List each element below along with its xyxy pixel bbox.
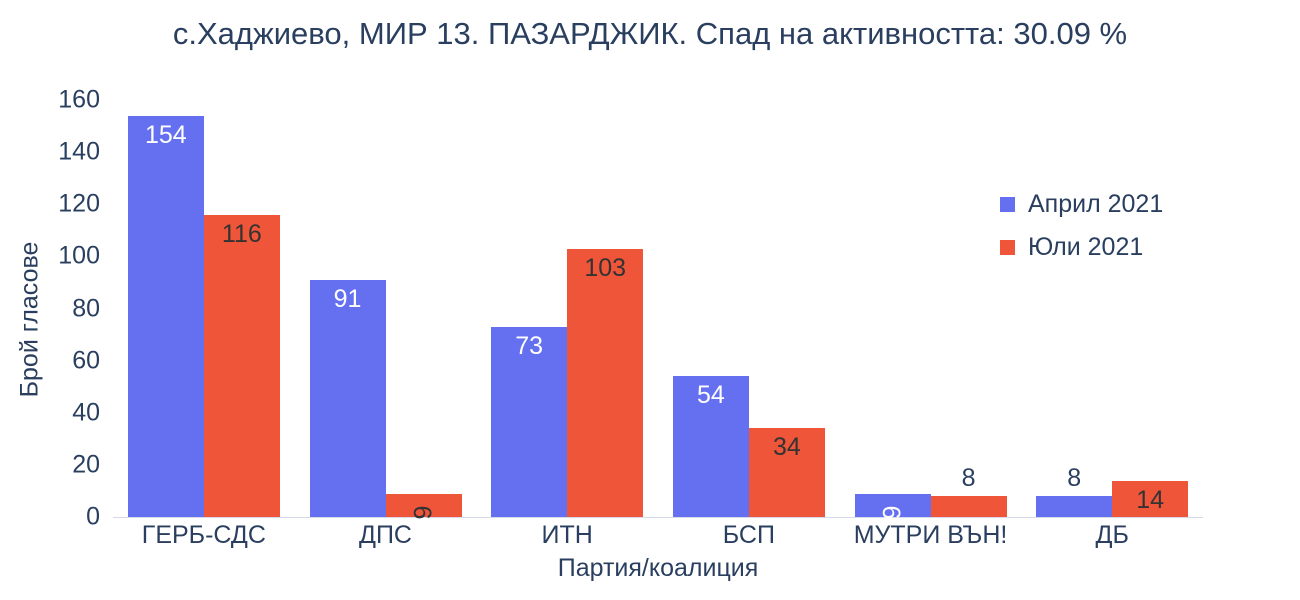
bar-april[interactable]: 54 <box>673 376 749 517</box>
legend-item[interactable]: Юли 2021 <box>1000 233 1163 262</box>
bar-april[interactable]: 154 <box>128 116 204 517</box>
bar-april[interactable]: 9 <box>855 494 931 517</box>
bar-value-label: 73 <box>491 334 567 359</box>
y-tick-label: 140 <box>8 138 100 167</box>
x-axis-ticks: ГЕРБ-СДСДПСИТНБСПМУТРИ ВЪН!ДБ <box>113 521 1203 555</box>
bar-value-label: 154 <box>128 123 204 148</box>
y-tick-label: 100 <box>8 242 100 271</box>
x-tick-label: ДБ <box>1021 521 1203 555</box>
x-tick-label: ИТН <box>476 521 658 555</box>
bar-value-label: 8 <box>1036 466 1112 491</box>
legend-swatch-icon <box>1000 240 1015 255</box>
x-tick-label: ГЕРБ-СДС <box>113 521 295 555</box>
legend-item[interactable]: Април 2021 <box>1000 190 1163 219</box>
bar-group: 154116 <box>113 100 295 517</box>
bar-july[interactable]: 8 <box>931 496 1007 517</box>
bar-group: 73103 <box>476 100 658 517</box>
bar-value-label: 91 <box>310 287 386 312</box>
x-tick-label: МУТРИ ВЪН! <box>840 521 1022 555</box>
bar-july[interactable]: 116 <box>204 215 280 517</box>
x-axis-title: Партия/коалиция <box>113 554 1203 583</box>
bar-value-label: 8 <box>931 466 1007 491</box>
bar-july[interactable]: 14 <box>1112 481 1188 517</box>
bar-value-label: 14 <box>1112 488 1188 513</box>
bar-group: 814 <box>1021 100 1203 517</box>
bar-value-label: 116 <box>204 222 280 247</box>
chart-legend: Април 2021Юли 2021 <box>1000 190 1163 262</box>
legend-swatch-icon <box>1000 197 1015 212</box>
bar-april[interactable]: 73 <box>491 327 567 517</box>
y-tick-label: 60 <box>8 346 100 375</box>
bar-value-label: 54 <box>673 383 749 408</box>
bar-group: 919 <box>295 100 477 517</box>
y-tick-label: 120 <box>8 190 100 219</box>
legend-label: Април 2021 <box>1028 190 1163 219</box>
y-tick-label: 20 <box>8 450 100 479</box>
y-tick-label: 80 <box>8 294 100 323</box>
legend-label: Юли 2021 <box>1028 233 1143 262</box>
bar-value-label: 34 <box>749 435 825 460</box>
bar-group: 98 <box>840 100 1022 517</box>
bar-july[interactable]: 9 <box>386 494 462 517</box>
x-tick-label: БСП <box>658 521 840 555</box>
y-axis-ticks: 020406080100120140160 <box>0 0 100 600</box>
bar-july[interactable]: 34 <box>749 428 825 517</box>
bar-group: 5434 <box>658 100 840 517</box>
bar-groups: 15411691973103543498814 <box>113 100 1203 517</box>
bar-april[interactable]: 91 <box>310 280 386 517</box>
y-tick-label: 0 <box>8 503 100 532</box>
chart-figure: с.Хаджиево, МИР 13. ПАЗАРДЖИК. Спад на а… <box>0 0 1300 600</box>
y-tick-label: 160 <box>8 86 100 115</box>
x-axis-line <box>113 517 1203 518</box>
bar-april[interactable]: 8 <box>1036 496 1112 517</box>
chart-title: с.Хаджиево, МИР 13. ПАЗАРДЖИК. Спад на а… <box>0 16 1300 52</box>
y-tick-label: 40 <box>8 398 100 427</box>
bar-value-label: 103 <box>567 256 643 281</box>
bar-july[interactable]: 103 <box>567 249 643 517</box>
x-tick-label: ДПС <box>295 521 477 555</box>
